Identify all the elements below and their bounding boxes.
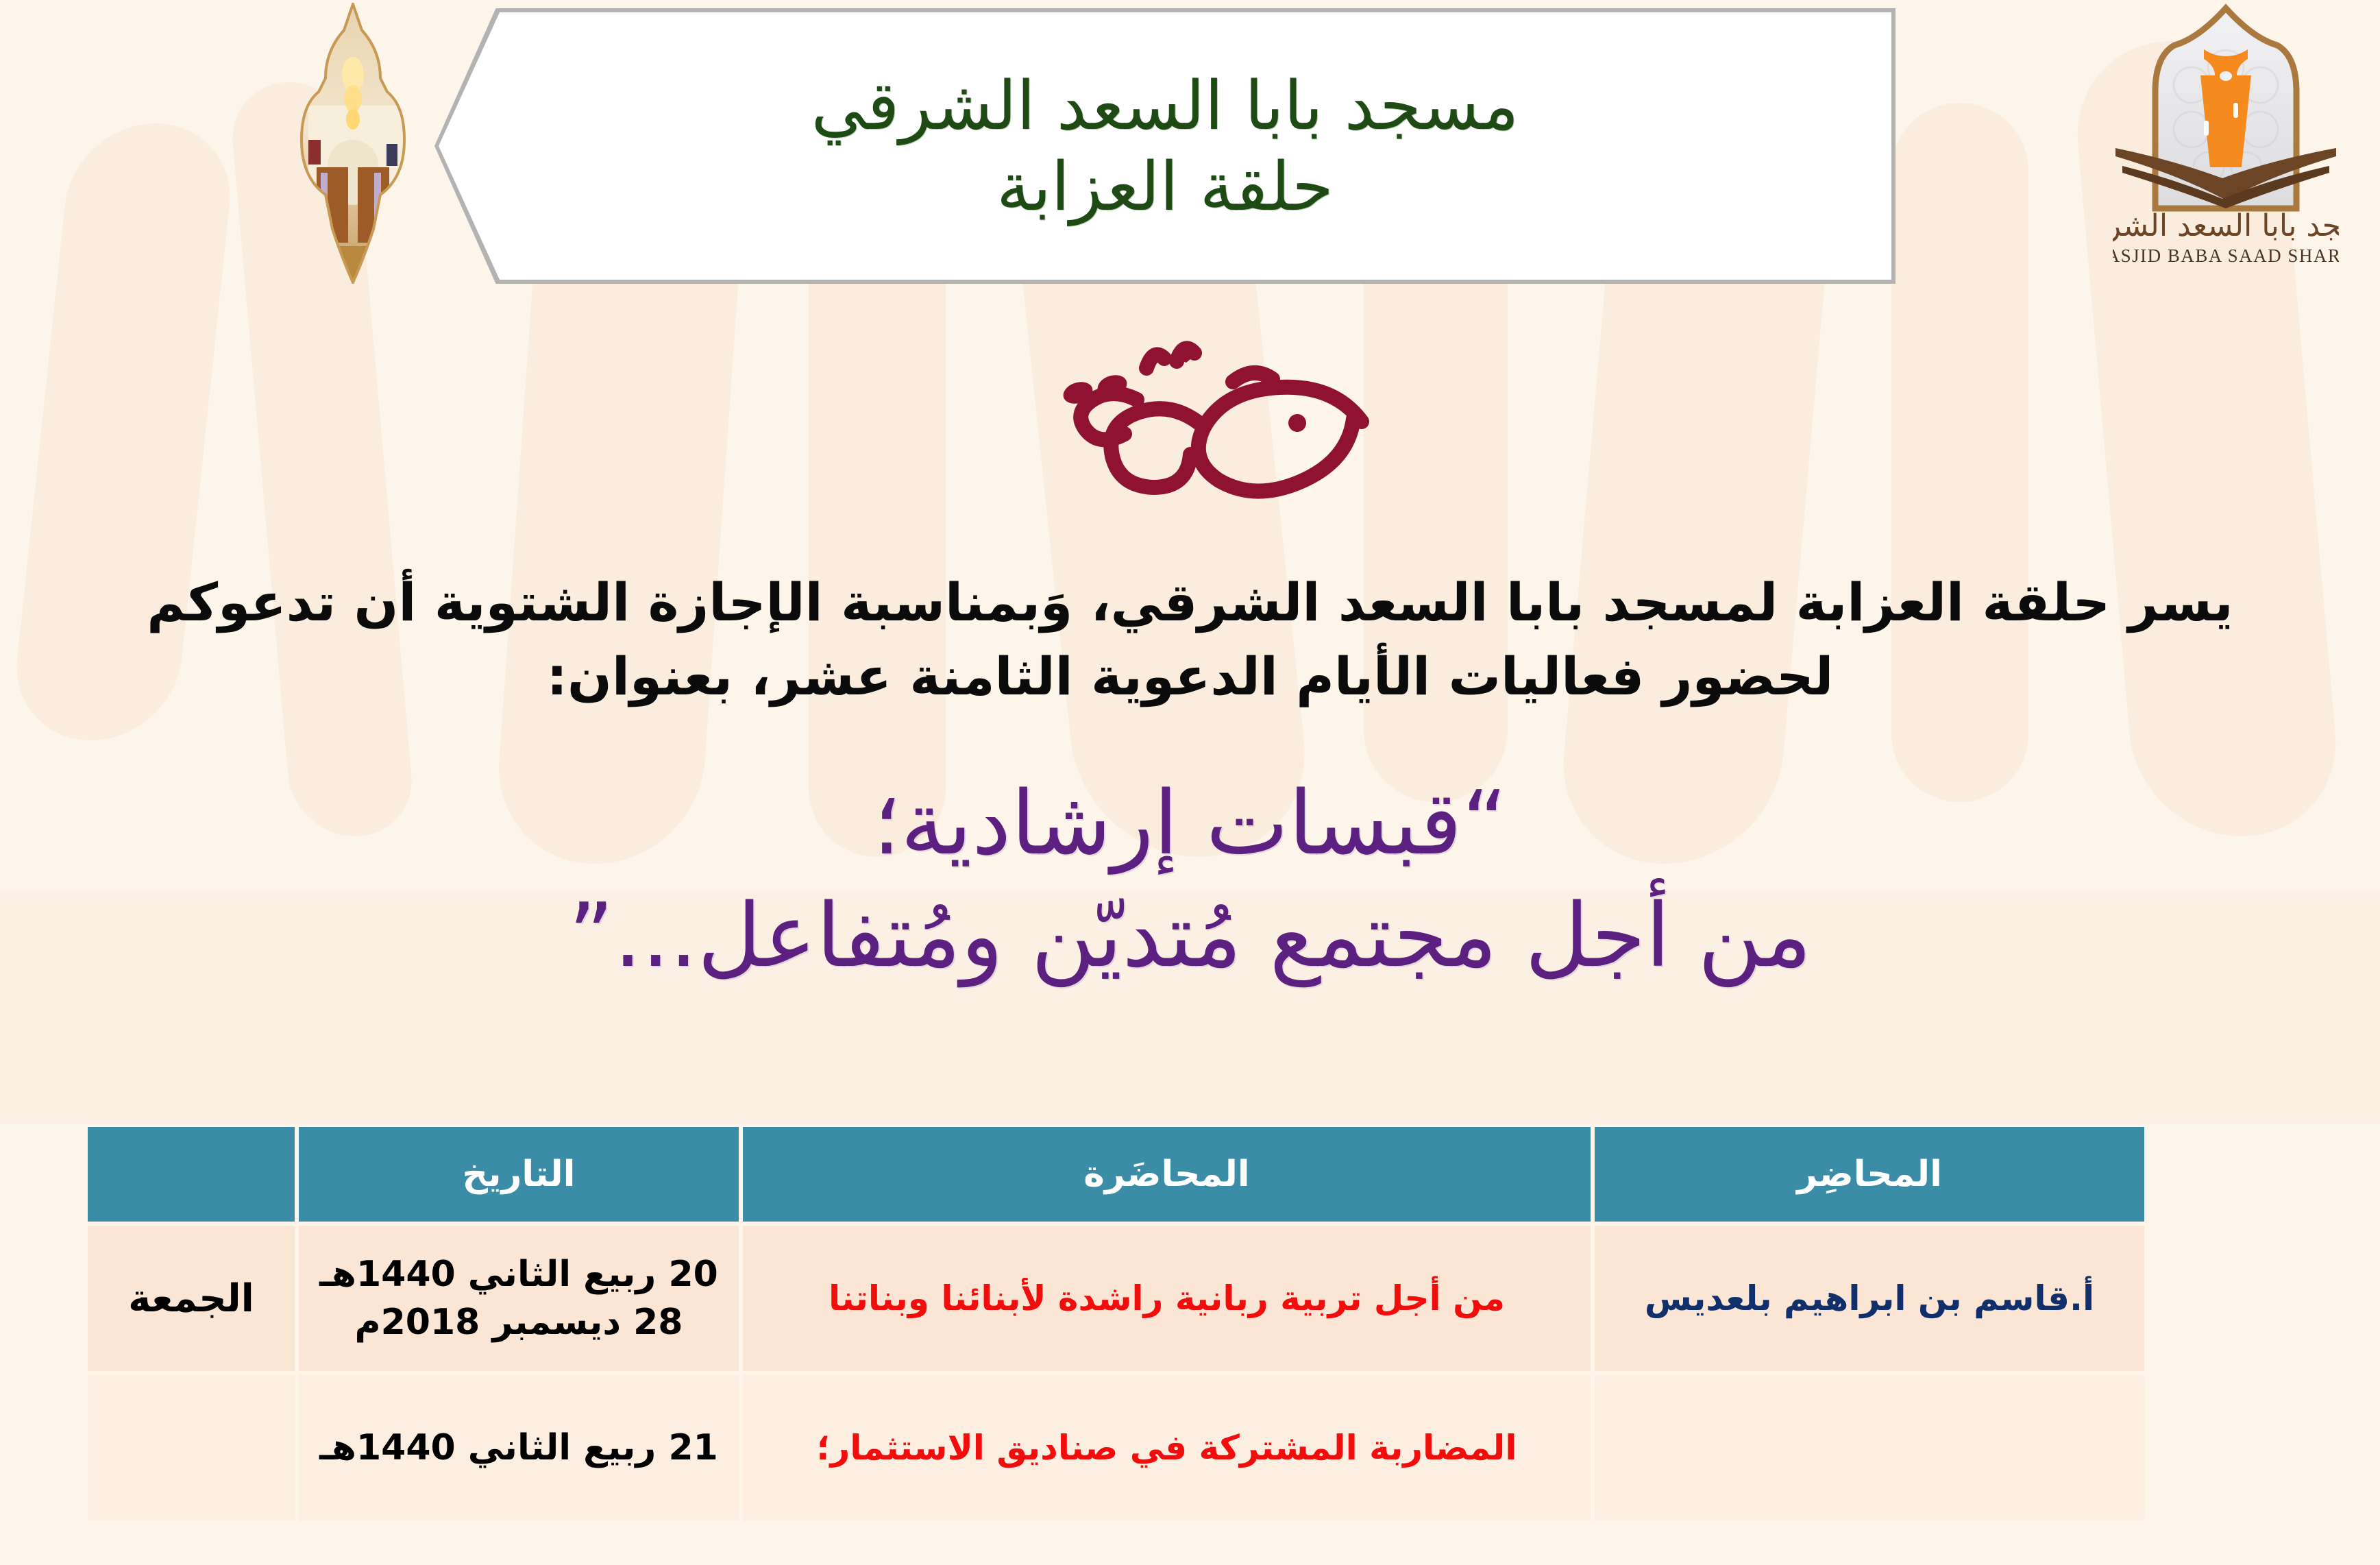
cell-lecturer: [1595, 1375, 2144, 1520]
cell-day: [88, 1375, 295, 1520]
cell-day: الجمعة: [88, 1226, 295, 1371]
circle-name-subtitle: حلقة العزابة: [996, 152, 1334, 223]
logo-arabic-script: مسجد بابا السعد الشرقي: [2113, 208, 2339, 243]
lecturer-name: أ.قاسم بن ابراهيم بلعديس: [1607, 1277, 2132, 1320]
date-hijri: 21 ربيع الثاني 1440هـ: [311, 1424, 726, 1472]
schedule-table: المحاضِر المحاضَرة التاريخ أ.قاسم بن ابر…: [84, 1123, 2148, 1525]
column-header-lecturer: المحاضِر: [1595, 1127, 2144, 1222]
column-header-date: التاريخ: [299, 1127, 739, 1222]
lecture-title: المضاربة المشتركة في صناديق الاستثمار؛: [755, 1426, 1578, 1470]
column-header-lecture: المحاضَرة: [743, 1127, 1591, 1222]
mosque-logo: مسجد بابا السعد الشرقي MASJID BABA SAAD …: [2113, 3, 2339, 277]
headline-line-1: “قبسات إرشادية؛: [0, 768, 2380, 880]
cell-lecturer: أ.قاسم بن ابراهيم بلعديس: [1595, 1226, 2144, 1371]
cell-topic: المضاربة المشتركة في صناديق الاستثمار؛: [743, 1375, 1591, 1520]
event-headline: “قبسات إرشادية؛ من أجل مجتمع مُتديّن ومُ…: [0, 768, 2380, 993]
table-header-row: المحاضِر المحاضَرة التاريخ: [88, 1127, 2144, 1222]
lecture-title: من أجل تربية ربانية راشدة لأبنائنا وبنات…: [755, 1276, 1578, 1321]
cell-date: 20 ربيع الثاني 1440هـ 28 ديسمبر 2018م: [299, 1226, 739, 1371]
date-gregorian: 28 ديسمبر 2018م: [311, 1298, 726, 1346]
table-row: المضاربة المشتركة في صناديق الاستثمار؛ 2…: [88, 1375, 2144, 1520]
date-hijri: 20 ربيع الثاني 1440هـ: [311, 1250, 726, 1298]
logo-latin-name: MASJID BABA SAAD SHARKI: [2113, 245, 2339, 266]
invitation-paragraph: يسر حلقة العزابة لمسجد بابا السعد الشرقي…: [75, 566, 2305, 714]
headline-line-2: من أجل مجتمع مُتديّن ومُتفاعل...”: [0, 880, 2380, 993]
dawa-calligraphy-icon: دعوة: [978, 319, 1403, 511]
invitation-line-1: يسر حلقة العزابة لمسجد بابا السعد الشرقي…: [75, 566, 2305, 640]
invitation-line-2: لحضور فعاليات الأيام الدعوية الثامنة عشر…: [75, 640, 2305, 714]
day-name: الجمعة: [100, 1276, 282, 1321]
poster-header: مسجد بابا السعد الشرقي حلقة العزابة: [0, 0, 2380, 288]
cell-date: 21 ربيع الثاني 1440هـ: [299, 1375, 739, 1520]
header-title-group: مسجد بابا السعد الشرقي حلقة العزابة: [480, 21, 1850, 274]
mosque-interior-photo: [240, 3, 466, 284]
column-header-day: [88, 1127, 295, 1222]
mosque-name-title: مسجد بابا السعد الشرقي: [811, 71, 1519, 143]
dawa-calligraphy-block: دعوة: [0, 312, 2380, 518]
cell-topic: من أجل تربية ربانية راشدة لأبنائنا وبنات…: [743, 1226, 1591, 1371]
table-row: أ.قاسم بن ابراهيم بلعديس من أجل تربية رب…: [88, 1226, 2144, 1371]
